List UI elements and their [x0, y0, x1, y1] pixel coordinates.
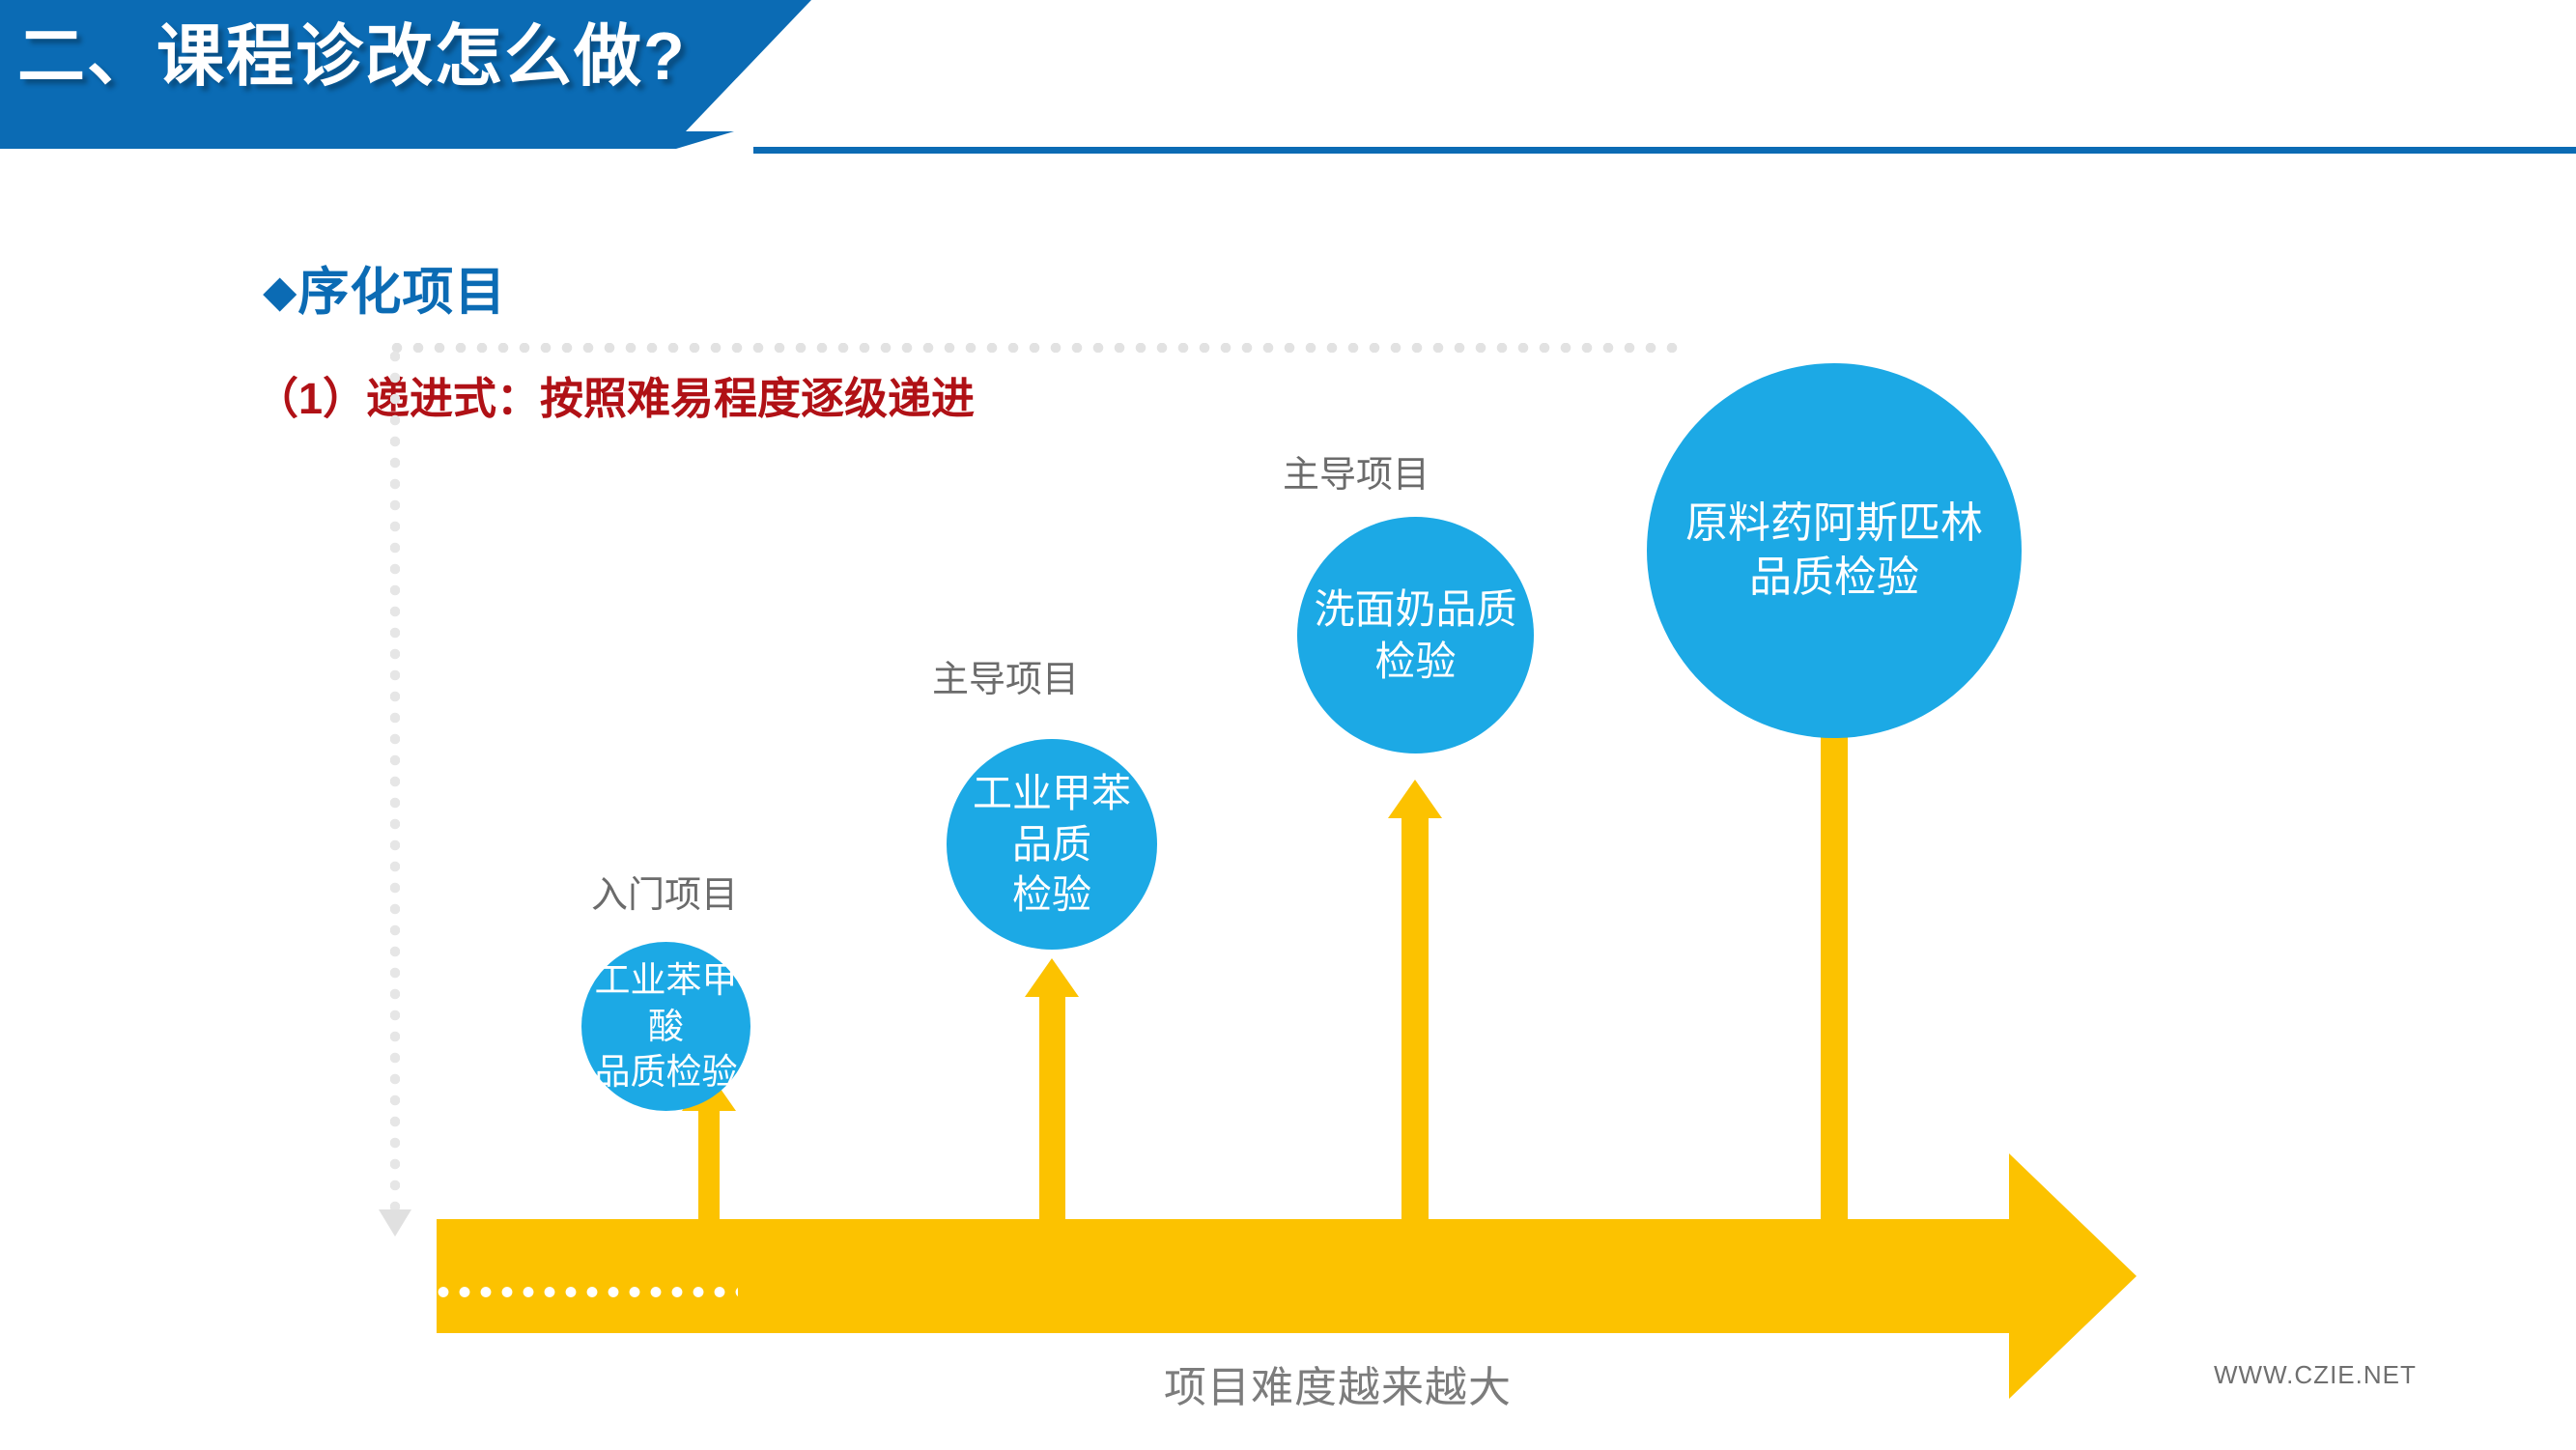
node-label-1-line1: 工业苯甲酸	[595, 960, 738, 1045]
dotted-guide-baseline	[390, 1287, 738, 1297]
dotted-guide-arrowhead-icon	[379, 1209, 411, 1237]
node-stem-head-2-icon	[1025, 958, 1079, 997]
node-stem-head-3-icon	[1388, 780, 1442, 818]
diagram-bottom-caption: 项目难度越来越大	[1164, 1352, 1512, 1414]
page-title: 二、课程诊改怎么做?	[17, 8, 687, 104]
header-banner-accent	[0, 131, 734, 149]
watermark: WWW.CZIE.NET	[2214, 1360, 2417, 1390]
progression-arrow-shaft	[437, 1219, 2021, 1333]
header-rule	[753, 147, 2576, 154]
dotted-guide-horizontal	[386, 343, 1681, 353]
node-label-3-line2: 检验	[1374, 639, 1456, 684]
node-label-2-line1: 工业甲苯品质	[973, 771, 1131, 866]
node-circle-3[interactable]: 洗面奶品质 检验	[1297, 517, 1534, 753]
node-label-3-line1: 洗面奶品质	[1314, 586, 1516, 632]
node-circle-2[interactable]: 工业甲苯品质 检验	[947, 739, 1157, 950]
node-label-1-line2: 品质检验	[595, 1052, 738, 1092]
progression-arrow-head-icon	[2009, 1153, 2137, 1399]
sub-heading: （1）递进式：按照难易程度逐级递进	[255, 363, 975, 426]
section-heading-label: 序化项目	[297, 264, 506, 321]
node-stem-2	[1039, 995, 1065, 1225]
node-stem-1	[698, 1109, 720, 1225]
node-circle-4[interactable]: 原料药阿斯匹林 品质检验	[1647, 363, 2022, 738]
node-caption-2: 主导项目	[932, 649, 1079, 702]
node-circle-1[interactable]: 工业苯甲酸 品质检验	[581, 942, 750, 1111]
node-label-4-line2: 品质检验	[1749, 554, 1919, 601]
section-heading: ◆序化项目	[263, 251, 506, 325]
dotted-guide-vertical	[390, 346, 400, 1220]
node-label-4-line1: 原料药阿斯匹林	[1685, 499, 1983, 547]
node-caption-1: 入门项目	[591, 865, 738, 918]
node-label-2-line2: 检验	[1012, 872, 1091, 917]
diamond-icon: ◆	[263, 266, 297, 316]
node-stem-3	[1401, 816, 1429, 1225]
node-caption-3: 主导项目	[1283, 444, 1430, 498]
